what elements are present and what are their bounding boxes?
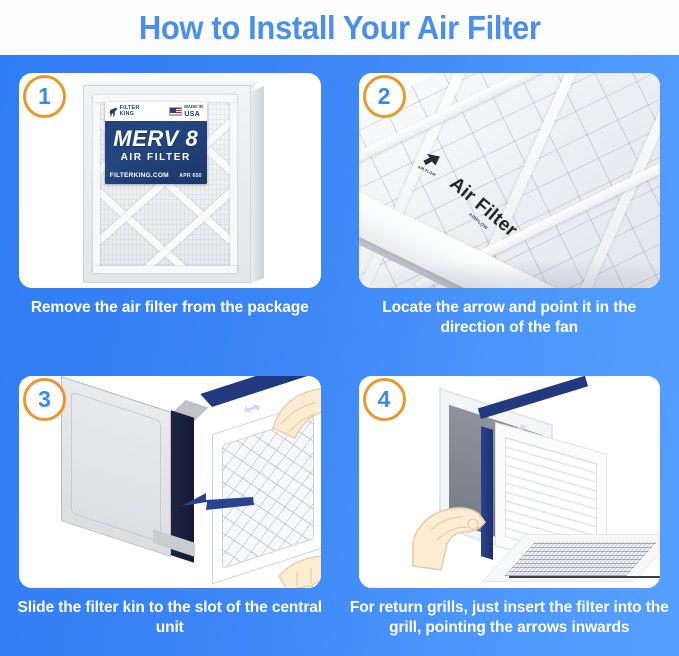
filter-king-logo: FILTER KING [109,106,140,117]
step-3-caption: Slide the filter kin to the slot of the … [10,598,330,638]
step-4: 4 For return grills, just insert the fil… [340,358,679,656]
usa-flag-icon [169,107,182,116]
made-in-usa-block: MADE IN USA [169,105,203,118]
filter-king-text: FILTER KING [120,106,140,117]
insert-direction-arrow [182,488,254,518]
step-4-caption: For return grills, just insert the filte… [350,598,670,638]
step-1-caption: Remove the air filter from the package [10,298,330,318]
step-2-number-badge: 2 [363,75,406,118]
step-2: AIR FLOW Air Filter AIRFLOW 2 Locate the… [340,55,679,358]
hand-top-icon [267,384,321,446]
filter-label: FILTER KING MADE IN USA [105,102,207,184]
step-1-artwork: FILTER KING MADE IN USA [19,73,321,288]
step-1-number-badge: 1 [23,75,66,118]
filter-rail-right [230,96,237,272]
filter-blue-top-edge [477,376,587,419]
filter-rail-top [93,95,237,102]
filter-rail-left [93,96,100,272]
air-filter-photo: FILTER KING MADE IN USA [75,77,265,288]
hand-bottom-icon [277,546,321,588]
filter-rail-bottom [93,266,237,273]
filter-shadow [359,258,661,288]
step-3-card: 3 [19,376,321,588]
step-3-number-badge: 3 [23,378,66,421]
ceiling-edge-line [509,576,661,578]
apr-code: APR 650 [179,173,201,179]
step-2-card: AIR FLOW Air Filter AIRFLOW 2 [359,73,661,288]
step-1-card: FILTER KING MADE IN USA [19,73,321,288]
filter-label-footer: FILTERKING.COM APR 650 [110,172,202,179]
step-4-card: 4 [359,376,661,588]
usa-label: USA [184,110,203,118]
hand-icon [411,486,521,572]
step-1: FILTER KING MADE IN USA [0,55,340,358]
horse-icon [109,107,118,117]
filter-side-edge [251,86,264,283]
filter-frame: FILTER KING MADE IN USA [83,85,251,283]
step-4-number-badge: 4 [363,378,406,421]
infographic-page: How to Install Your Air Filter [0,0,679,656]
filter-arrow-icon [240,401,264,415]
step-3: 3 Slide the filter kin to the slot of th… [0,358,340,656]
steps-grid: FILTER KING MADE IN USA [0,55,679,656]
filter-blue-corner [313,376,320,384]
made-in-usa-text: MADE IN USA [184,105,203,118]
page-header: How to Install Your Air Filter [0,0,679,55]
label-subtitle: AIR FILTER [105,152,207,163]
brand-line-2: KING [120,111,134,117]
merv-rating: MERV 8 [105,128,207,150]
page-title: How to Install Your Air Filter [139,9,541,47]
filter-label-header: FILTER KING MADE IN USA [105,102,207,121]
brand-website: FILTERKING.COM [110,172,169,179]
step-2-caption: Locate the arrow and point it in the dir… [350,298,670,338]
